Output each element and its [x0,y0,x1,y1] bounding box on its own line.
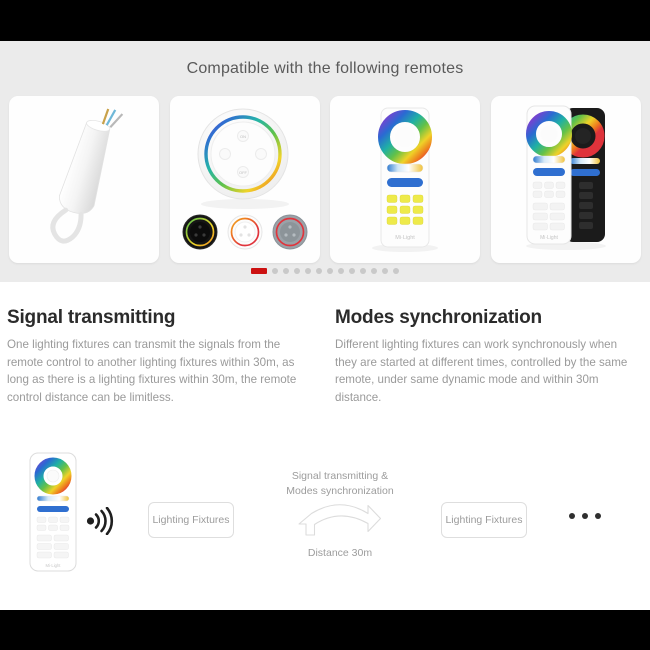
carousel-slide-round-panel-remote[interactable]: ON OFF [170,96,320,263]
carousel-dot-13[interactable] [393,268,399,274]
carousel-dot-4[interactable] [294,268,300,274]
feature-title: Signal transmitting [7,307,314,329]
carousel-pagination[interactable] [0,268,650,274]
carousel-dot-8[interactable] [338,268,344,274]
diagram-center-annotation: Signal transmitting & Modes synchronizat… [270,469,410,561]
center-label-line-2: Modes synchronization [270,484,410,499]
carousel-dot-9[interactable] [349,268,355,274]
carousel-dot-1[interactable] [251,268,267,274]
screenshot-root: Compatible with the following remotes [0,0,650,650]
carousel-slide-white-antenna-receiver[interactable] [9,96,159,263]
lighting-fixtures-box-1: Lighting Fixtures [148,502,234,538]
feature-body: One lighting fixtures can transmit the s… [7,336,314,406]
carousel-dot-2[interactable] [272,268,278,274]
svg-text:Mi·Light: Mi·Light [396,235,416,241]
diagram-remote: Mi·Light [28,451,78,578]
feature-columns: Signal transmitting One lighting fixture… [0,282,650,406]
feature-body: Different lighting fixtures can work syn… [335,336,642,406]
carousel-slide-white-handheld-remote[interactable]: Mi·Light [330,96,480,263]
carousel-dot-7[interactable] [327,268,333,274]
bidirectional-curved-arrow-glyph [297,503,383,543]
white-handheld-remote-image: Mi·Light [330,96,480,263]
svg-text:OFF: OFF [239,170,248,175]
svg-text:Mi·Light: Mi·Light [540,235,558,241]
center-label-line-1: Signal transmitting & [270,469,410,484]
ellipsis-dot-1 [569,513,575,519]
ellipsis-dot-2 [582,513,588,519]
feature-modes-synchronization: Modes synchronization Different lighting… [335,307,642,406]
svg-text:ON: ON [240,134,246,139]
handheld-remote-icon: Mi·Light [28,451,78,573]
white-antenna-receiver-image [9,96,159,263]
lighting-fixtures-box-2: Lighting Fixtures [441,502,527,538]
letterbox-bottom [0,610,650,650]
carousel-slides: ON OFF [0,82,650,263]
signal-wave-glyph [86,507,116,535]
carousel-dot-3[interactable] [283,268,289,274]
carousel-dot-6[interactable] [316,268,322,274]
white-black-remote-pair-image: Mi·Light [491,96,641,263]
signal-wave-icon [86,507,116,540]
carousel-dot-12[interactable] [382,268,388,274]
feature-title: Modes synchronization [335,307,642,329]
carousel-title: Compatible with the following remotes [0,51,650,82]
distance-label: Distance 30m [270,546,410,561]
page-content: Compatible with the following remotes [0,41,650,610]
letterbox-top [0,0,650,41]
svg-text:Mi·Light: Mi·Light [46,563,62,568]
bidirectional-arrow-icon [270,503,410,543]
carousel-dot-5[interactable] [305,268,311,274]
ellipsis-dot-3 [595,513,601,519]
diagram-ellipsis [569,513,601,519]
compatible-remotes-carousel: Compatible with the following remotes [0,41,650,282]
round-panel-remote-image: ON OFF [170,96,320,263]
signal-diagram: Mi·Light Lighting Fixtures Signal transm… [0,451,650,621]
carousel-dot-10[interactable] [360,268,366,274]
carousel-dot-11[interactable] [371,268,377,274]
feature-signal-transmitting: Signal transmitting One lighting fixture… [7,307,314,406]
carousel-slide-white-black-remote-pair[interactable]: Mi·Light [491,96,641,263]
